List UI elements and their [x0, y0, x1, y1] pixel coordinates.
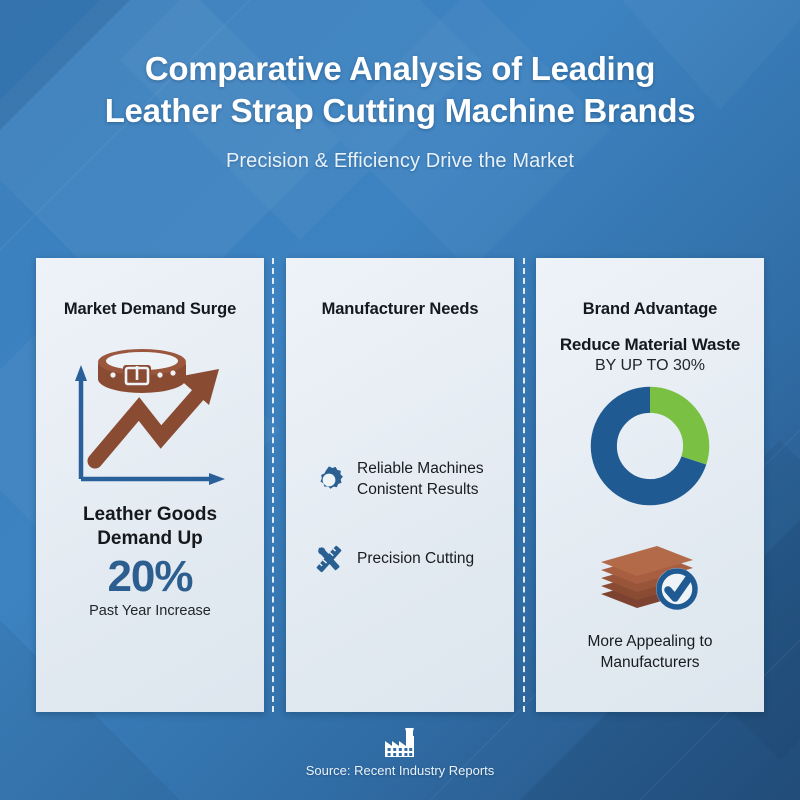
header: Comparative Analysis of Leading Leather … [0, 0, 800, 210]
need-item-label: Reliable Machines Conistent Results [357, 459, 484, 500]
market-demand-headline: Leather Goods Demand Up [83, 503, 217, 552]
panel-title-market-demand: Market Demand Surge [64, 300, 236, 319]
footer-line-2: Manufacturers [588, 653, 713, 674]
need-item-label: Precision Cutting [357, 549, 474, 570]
panel-title-manufacturer-needs: Manufacturer Needs [322, 300, 479, 319]
source-label: Source: Recent Industry Reports [306, 763, 495, 778]
need-item-reliable-machines: Reliable Machines Conistent Results [298, 459, 502, 500]
panel-brand-advantage: Brand Advantage Reduce Material Waste BY… [536, 258, 764, 712]
waste-reduction-donut-chart [589, 385, 711, 512]
panel-manufacturer-needs: Manufacturer Needs Reliable Machines Con… [286, 258, 514, 712]
page-subtitle: Precision & Efficiency Drive the Market [226, 150, 574, 173]
factory-icon [383, 728, 417, 758]
market-demand-stat-caption: Past Year Increase [89, 603, 211, 619]
gear-icon [312, 463, 346, 497]
need-label-line-1: Precision Cutting [357, 549, 474, 570]
ruler-pencil-icon [312, 542, 346, 576]
panel-title-brand-advantage: Brand Advantage [583, 300, 718, 319]
panel-container: Market Demand Surge [36, 258, 764, 712]
page-title: Comparative Analysis of Leading Leather … [105, 48, 696, 132]
headline-line-1: Leather Goods [83, 503, 217, 527]
belt-icon [98, 349, 186, 393]
needs-list: Reliable Machines Conistent Results [298, 459, 502, 576]
need-label-line-2: Conistent Results [357, 480, 484, 501]
panel-market-demand: Market Demand Surge [36, 258, 264, 712]
panel-divider-1 [272, 258, 274, 712]
title-line-1: Comparative Analysis of Leading [105, 48, 696, 90]
footer-line-1: More Appealing to [588, 632, 713, 653]
check-circle-icon [656, 568, 698, 610]
leather-stack-check-icon [589, 534, 711, 614]
title-line-2: Leather Strap Cutting Machine Brands [105, 90, 696, 132]
brand-advantage-footer: More Appealing to Manufacturers [588, 632, 713, 674]
need-label-line-1: Reliable Machines [357, 459, 484, 480]
market-demand-stat: 20% [107, 554, 192, 600]
brand-advantage-subhead: BY UP TO 30% [595, 357, 705, 375]
leather-belt-growth-arrow-icon [57, 333, 243, 489]
brand-advantage-headline: Reduce Material Waste [560, 335, 740, 355]
headline-line-2: Demand Up [83, 527, 217, 551]
footer: Source: Recent Industry Reports [0, 728, 800, 778]
panel-divider-2 [523, 258, 525, 712]
need-item-precision-cutting: Precision Cutting [298, 542, 502, 576]
